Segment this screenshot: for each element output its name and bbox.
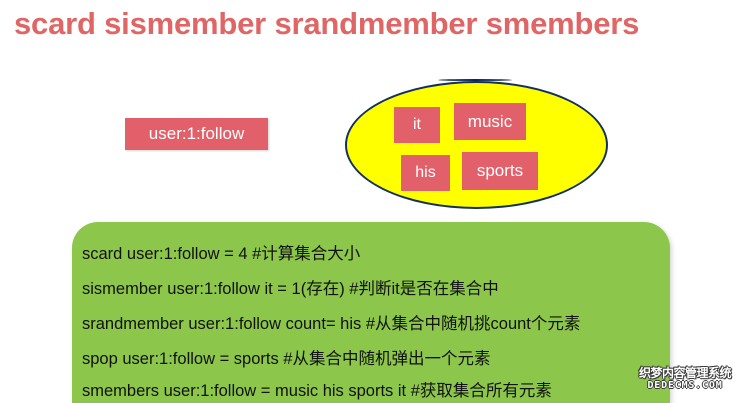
set-member-his-label: his xyxy=(415,164,435,182)
set-member-sports: sports xyxy=(462,152,538,190)
redis-key-box: user:1:follow xyxy=(125,118,268,150)
set-member-his: his xyxy=(401,155,450,191)
page-title: scard sismember srandmember smembers xyxy=(14,4,729,46)
set-member-music-label: music xyxy=(468,113,512,131)
command-line-smembers: smembers user:1:follow = music his sport… xyxy=(82,381,552,401)
set-member-it-label: it xyxy=(413,116,421,134)
slide-canvas: scard sismember srandmember smembers use… xyxy=(0,0,741,403)
command-line-scard: scard user:1:follow = 4 #计算集合大小 xyxy=(82,244,360,264)
command-line-spop: spop user:1:follow = sports #从集合中随机弹出一个元… xyxy=(82,349,491,369)
command-panel: scard user:1:follow = 4 #计算集合大小 sismembe… xyxy=(72,222,670,403)
set-member-music: music xyxy=(454,103,526,140)
redis-key-label: user:1:follow xyxy=(149,124,244,144)
set-member-sports-label: sports xyxy=(477,162,523,180)
command-line-srandmember: srandmember user:1:follow count= his #从集… xyxy=(82,314,580,334)
set-member-it: it xyxy=(394,107,440,143)
command-line-sismember: sismember user:1:follow it = 1(存在) #判断it… xyxy=(82,279,499,299)
